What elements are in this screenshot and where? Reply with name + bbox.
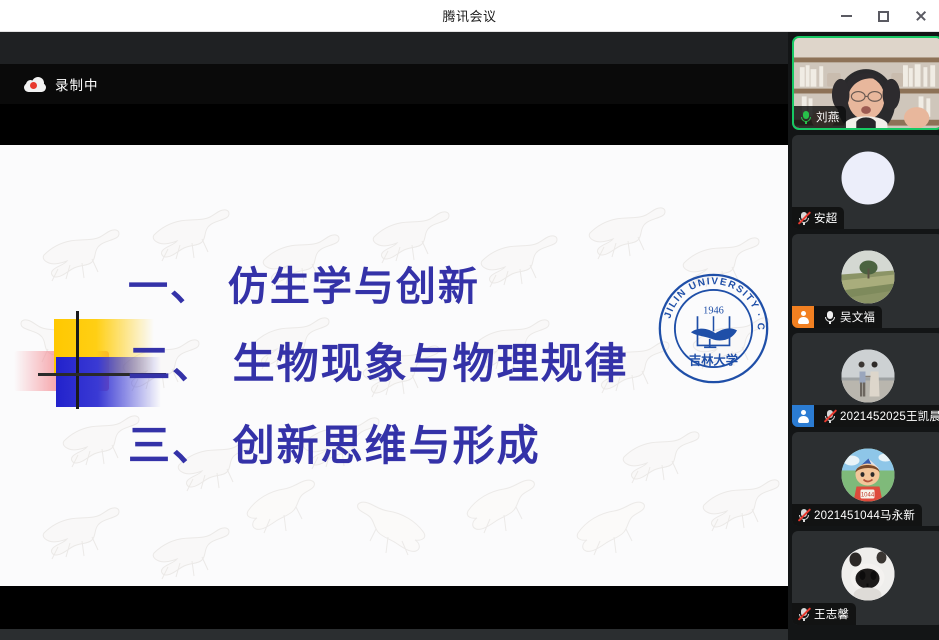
minimize-button[interactable] xyxy=(828,0,865,32)
participant-rail[interactable]: 刘燕 安超 xyxy=(788,32,939,640)
tree-landscape-image xyxy=(841,251,894,304)
mic-icon xyxy=(823,309,836,325)
couple-beach-image xyxy=(841,350,894,403)
window-titlebar: 腾讯会议 xyxy=(0,0,939,32)
presentation-slide: JILIN UNIVERSITY · CHINA 1946 吉林大学 一、 仿生… xyxy=(0,145,788,586)
cohost-badge-icon xyxy=(792,405,814,427)
minimize-icon xyxy=(841,15,852,17)
maximize-button[interactable] xyxy=(865,0,902,32)
cartoon-character-image: 1044 xyxy=(841,449,894,502)
participant-tile[interactable]: 1044 2021451044马永新 xyxy=(792,432,939,526)
tencent-meeting-window: 腾讯会议 录制中 xyxy=(0,0,939,640)
slide-line-1: 一、 仿生学与创新 xyxy=(128,267,480,307)
close-icon xyxy=(915,10,927,22)
recording-indicator: 录制中 xyxy=(0,64,788,104)
cartoon-character-avatar: 1044 xyxy=(841,449,894,502)
host-badge-icon xyxy=(792,306,814,328)
participant-name: 安超 xyxy=(814,210,837,226)
couple-beach-avatar xyxy=(841,350,894,403)
shared-screen-stage[interactable]: 录制中 xyxy=(0,32,788,640)
participant-tile[interactable]: 王志馨 xyxy=(792,531,939,625)
slide-line-3: 三、 创新思维与形成 xyxy=(128,425,541,467)
cloud-record-icon xyxy=(24,77,46,92)
svg-text:JILIN UNIVERSITY · CHINA: JILIN UNIVERSITY · CHINA xyxy=(657,272,766,332)
mic-muted-icon xyxy=(797,507,810,523)
maximize-icon xyxy=(878,11,889,22)
participant-nametag: 安超 xyxy=(792,207,844,229)
participant-tile[interactable]: 2021452025王凯晨 xyxy=(792,333,939,427)
blank-circle-avatar xyxy=(841,152,894,205)
participant-nametag: 吴文福 xyxy=(792,306,882,328)
stage-bottom-bar xyxy=(0,629,788,640)
participant-tile[interactable]: 安超 xyxy=(792,135,939,229)
stage-letterbox-bottom xyxy=(0,586,788,629)
participant-name: 2021452025王凯晨 xyxy=(840,408,939,424)
svg-text:吉林大学: 吉林大学 xyxy=(689,352,738,367)
jilin-university-logo: JILIN UNIVERSITY · CHINA 1946 吉林大学 xyxy=(657,272,770,385)
mic-on-icon xyxy=(799,109,812,125)
window-title: 腾讯会议 xyxy=(442,6,496,25)
dog-nose-image xyxy=(841,548,894,601)
window-controls xyxy=(828,0,939,32)
mic-muted-icon xyxy=(797,606,810,622)
dog-nose-avatar xyxy=(841,548,894,601)
participant-name: 2021451044马永新 xyxy=(814,507,915,523)
svg-text:1044: 1044 xyxy=(860,493,874,499)
participant-name: 刘燕 xyxy=(816,109,839,125)
stage-top-strip xyxy=(0,32,788,64)
recording-label: 录制中 xyxy=(55,74,99,94)
slide-line-2: 二、 生物现象与物理规律 xyxy=(128,343,629,385)
participant-nametag: 2021452025王凯晨 xyxy=(792,405,939,427)
mic-muted-icon xyxy=(823,408,836,424)
participant-name: 吴文福 xyxy=(840,309,875,325)
deco-vertical-rule xyxy=(76,311,79,409)
participant-name: 王志馨 xyxy=(814,606,849,622)
svg-text:1946: 1946 xyxy=(703,305,724,316)
tree-landscape-avatar xyxy=(841,251,894,304)
participant-tile[interactable]: 刘燕 xyxy=(792,36,939,130)
mic-muted-icon xyxy=(797,210,810,226)
close-button[interactable] xyxy=(902,0,939,32)
participant-nametag: 2021451044马永新 xyxy=(792,504,922,526)
participant-tile[interactable]: 吴文福 xyxy=(792,234,939,328)
participant-nametag: 王志馨 xyxy=(792,603,856,625)
participant-nametag: 刘燕 xyxy=(794,106,846,128)
